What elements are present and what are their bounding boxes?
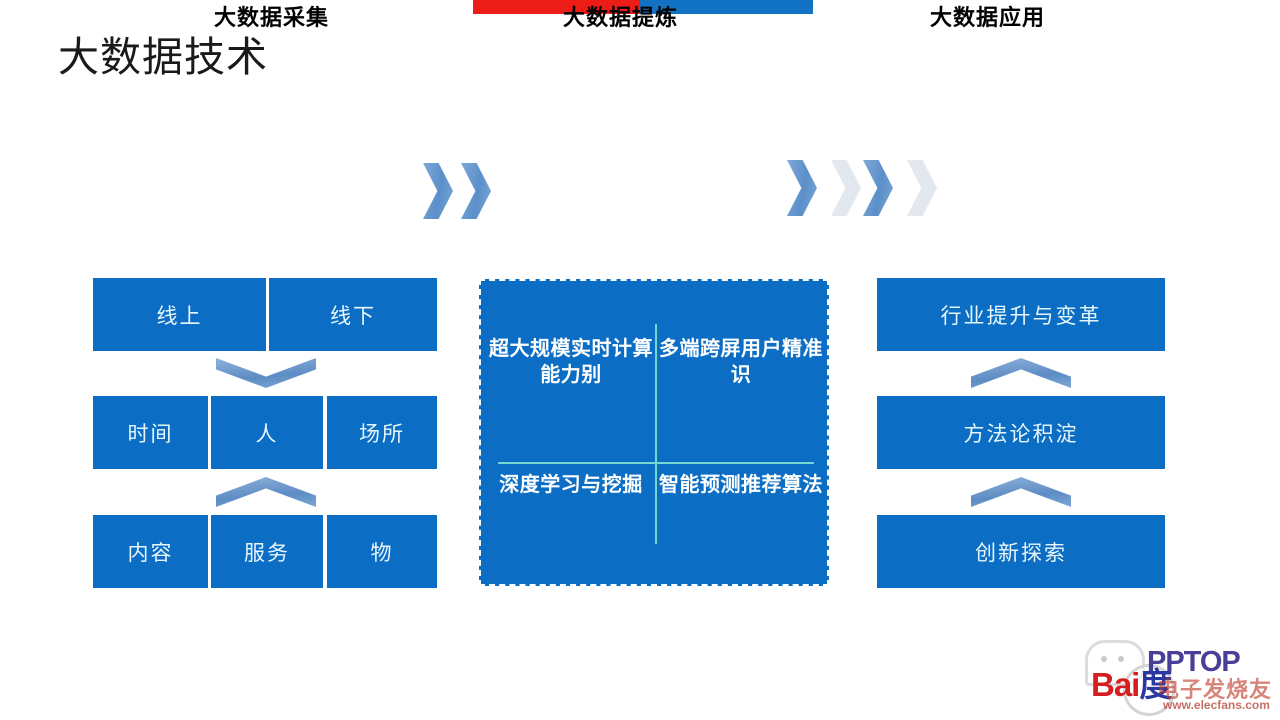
refine-quadrant-prediction: 智能预测推荐算法 [657, 473, 825, 499]
watermark-cluster: PPTOP Bai度 电子发烧友 www.elecfans.com [1085, 636, 1280, 720]
refine-panel[interactable]: 超大规模实时计算能力别 多端跨屏用户精准识 深度学习与挖掘 智能预测推荐算法 [479, 279, 829, 586]
quadrant-horizontal-divider [498, 462, 814, 464]
collection-tile-person[interactable]: 人 [211, 396, 323, 469]
chevron-up-icon [216, 477, 316, 507]
application-tile-innovation[interactable]: 创新探索 [877, 515, 1165, 588]
chevron-up-icon [971, 477, 1071, 507]
stage-heading-application: 大数据应用 [930, 0, 1045, 32]
chevron-down-icon [216, 358, 316, 388]
stage-arrow-collection-to-refine [423, 163, 499, 219]
collection-tile-time[interactable]: 时间 [93, 396, 208, 469]
chevron-right-shadow-icon [831, 160, 861, 216]
page-title: 大数据技术 [58, 34, 268, 81]
chevron-right-shadow-icon [907, 160, 937, 216]
stage-heading-refine: 大数据提炼 [563, 0, 678, 32]
collection-tile-content[interactable]: 内容 [93, 515, 208, 588]
collection-tile-place[interactable]: 场所 [327, 396, 437, 469]
baidu-logo-bai: Bai [1091, 666, 1139, 703]
refine-quadrant-deep-learning: 深度学习与挖掘 [487, 473, 655, 499]
stage-arrow-refine-to-application [787, 160, 939, 216]
chevron-right-icon [423, 163, 453, 219]
chevron-up-icon [971, 358, 1071, 388]
elecfans-watermark-url: www.elecfans.com [1163, 698, 1270, 712]
refine-quadrant-cross-screen: 多端跨屏用户精准识 [657, 337, 825, 388]
chevron-right-icon [787, 160, 817, 216]
refine-quadrant-compute: 超大规模实时计算能力别 [487, 337, 655, 388]
chevron-right-icon [863, 160, 893, 216]
application-tile-industry-upgrade[interactable]: 行业提升与变革 [877, 278, 1165, 351]
collection-tile-object[interactable]: 物 [327, 515, 437, 588]
stage-heading-collection: 大数据采集 [214, 0, 329, 32]
application-tile-methodology[interactable]: 方法论积淀 [877, 396, 1165, 469]
collection-tile-offline[interactable]: 线下 [269, 278, 437, 351]
collection-tile-online[interactable]: 线上 [93, 278, 266, 351]
collection-tile-service[interactable]: 服务 [211, 515, 323, 588]
chevron-right-icon [461, 163, 491, 219]
